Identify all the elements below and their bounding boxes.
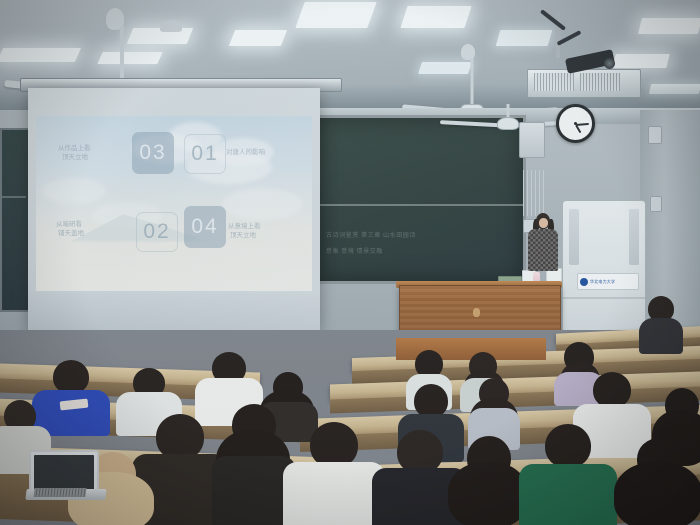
ceiling-light-panel (229, 30, 287, 46)
podium-keyhole (473, 308, 480, 317)
ac-brand-label: 华北电力大学 (577, 273, 639, 290)
wall-control-panel[interactable] (519, 122, 545, 158)
screen-glare (28, 88, 320, 330)
projector-lens-icon (604, 58, 615, 69)
clock-minute-hand (575, 122, 588, 125)
classroom-photo: 古诗词鉴赏 第三章 山水田园诗 意象 意境 情景交融 华北电力大学 (0, 0, 700, 525)
laptop-keyboard[interactable] (33, 488, 86, 497)
ceiling-light-panel (0, 48, 81, 62)
ac-seam (563, 297, 645, 299)
ac-label-text: 华北电力大学 (590, 279, 615, 285)
student (520, 424, 616, 525)
projection-screen: 从作品上看 顶天立地 从喻研看 铺天盖地 对唐人的影响 从意境上看 顶天立地 0… (28, 88, 320, 330)
presenter-torso (528, 229, 558, 271)
air-conditioner-unit: 华北电力大学 (562, 200, 646, 342)
wall-clock (556, 104, 595, 143)
side-blackboard-rail (2, 196, 26, 198)
clock-center (574, 122, 577, 125)
ceiling-light-panel (295, 2, 376, 28)
projector-mount-pole (556, 10, 560, 58)
chalk-rail (318, 204, 523, 206)
wall-outlet[interactable] (650, 196, 662, 212)
ceiling-light-panel (612, 54, 669, 68)
student (614, 438, 700, 525)
presenter-face (539, 218, 548, 228)
ceiling-fan (452, 104, 562, 144)
ceiling-dome-light (160, 20, 182, 32)
student (286, 422, 382, 525)
student (640, 296, 682, 352)
ac-vent (569, 209, 579, 265)
wall-outlet[interactable] (648, 126, 662, 144)
chalk-text-line-1: 古诗词鉴赏 第三章 山水田园诗 (326, 230, 416, 239)
projector-housing-box (527, 69, 641, 98)
student (214, 404, 294, 524)
university-logo-icon (580, 278, 588, 286)
laptop-screen[interactable] (34, 455, 94, 491)
ac-vent (629, 209, 639, 265)
wall-conduit (520, 170, 546, 216)
ceiling-light-panel (400, 6, 471, 28)
chalk-text-line-2: 意象 意境 情景交融 (326, 246, 383, 255)
ceiling-light-panel (638, 18, 700, 34)
